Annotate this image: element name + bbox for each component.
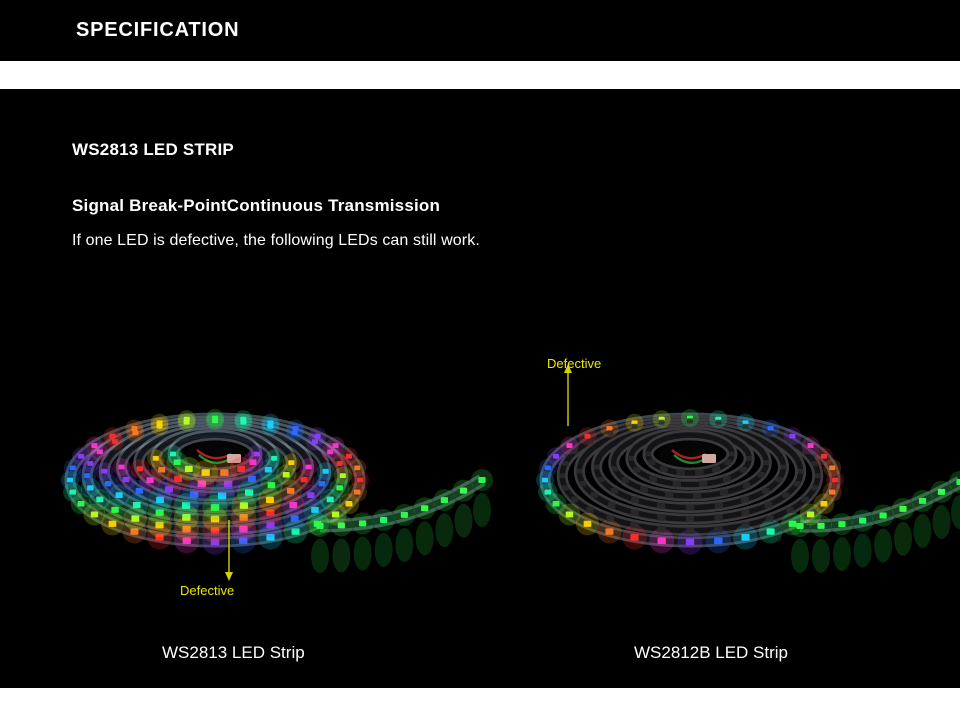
specification-page: SPECIFICATION WS2813 LED STRIP Signal Br… (0, 0, 960, 710)
feature-heading: Signal Break-PointContinuous Transmissio… (72, 196, 832, 216)
defective-label-ws2812b: Defective (547, 356, 601, 371)
product-heading: WS2813 LED STRIP (72, 140, 832, 160)
caption-ws2812b: WS2812B LED Strip (634, 643, 788, 663)
bottom-divider (0, 688, 960, 710)
figure-ws2813 (20, 330, 500, 630)
header-bar: SPECIFICATION (0, 0, 960, 61)
caption-ws2813: WS2813 LED Strip (162, 643, 305, 663)
ws2813-reel-image (20, 330, 500, 630)
ws2812b-reel-image (500, 330, 960, 630)
figure-ws2812b (500, 330, 960, 630)
page-title: SPECIFICATION (76, 19, 239, 42)
feature-description: If one LED is defective, the following L… (72, 232, 832, 250)
text-block: WS2813 LED STRIP Signal Break-PointConti… (72, 140, 832, 250)
defective-label-ws2813: Defective (180, 583, 234, 598)
header-divider (0, 61, 960, 89)
